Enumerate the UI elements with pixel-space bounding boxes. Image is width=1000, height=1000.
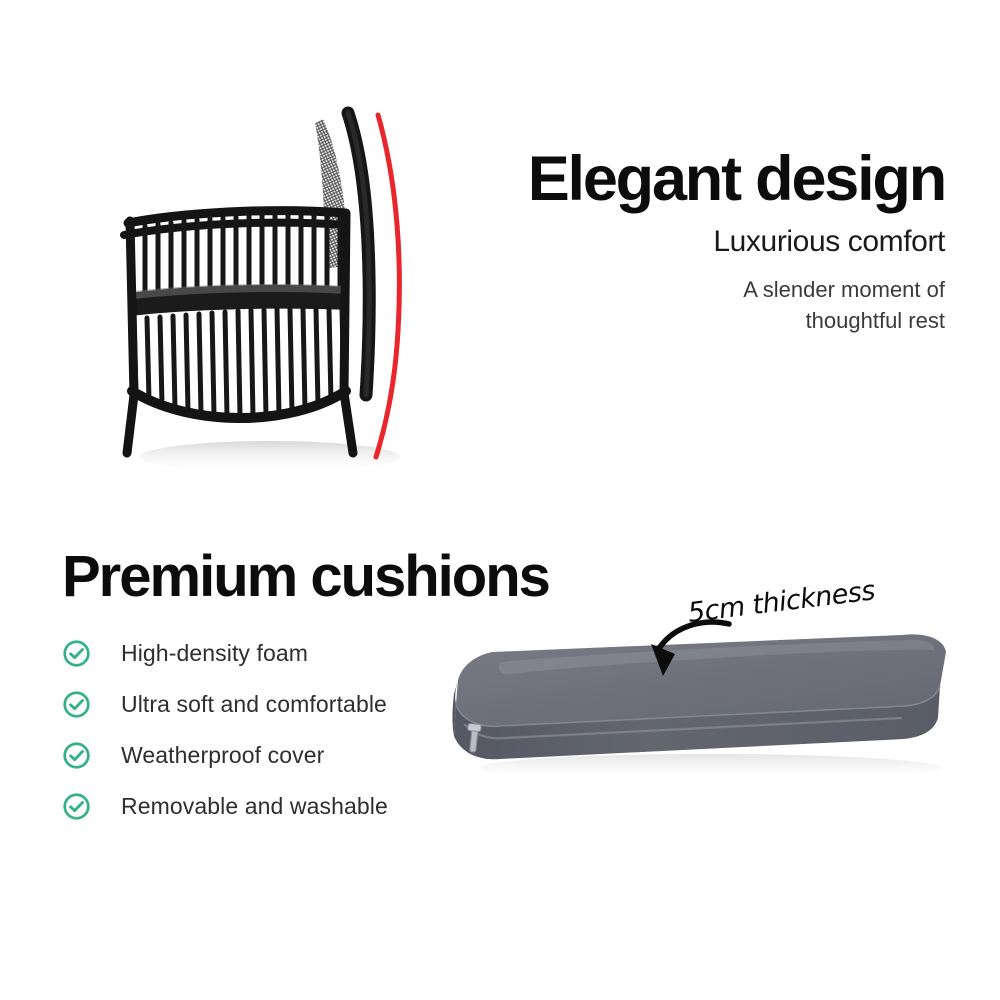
check-circle-icon	[62, 690, 91, 719]
hero-subtitle: Luxurious comfort	[425, 224, 945, 260]
feature-block: Premium cushions High-density foam Ultra…	[62, 548, 482, 832]
cushion-product-image	[440, 600, 960, 830]
check-circle-icon	[62, 639, 91, 668]
chair-front-upright	[130, 221, 134, 395]
hero-body-text: A slender moment of thoughtful rest	[695, 274, 945, 336]
chair-back-post-highlight	[348, 113, 369, 395]
cushion-shadow	[480, 754, 940, 782]
chair-floor-shadow	[140, 441, 400, 473]
check-circle-icon	[62, 741, 91, 770]
list-item-label: Ultra soft and comfortable	[121, 691, 387, 718]
list-item: Ultra soft and comfortable	[62, 679, 482, 730]
list-item-label: Weatherproof cover	[121, 742, 324, 769]
list-item: Removable and washable	[62, 781, 482, 832]
chair-front-leg	[127, 395, 134, 453]
check-circle-icon	[62, 792, 91, 821]
hero-copy-block: Elegant design Luxurious comfort A slend…	[425, 148, 945, 336]
poster-canvas: Elegant design Luxurious comfort A slend…	[0, 0, 1000, 1000]
hero-title: Elegant design	[425, 148, 945, 211]
list-item-label: Removable and washable	[121, 793, 388, 820]
list-item: Weatherproof cover	[62, 730, 482, 781]
list-item-label: High-density foam	[121, 640, 308, 667]
feature-list: High-density foam Ultra soft and comfort…	[62, 628, 482, 832]
accent-curve	[376, 115, 399, 457]
list-item: High-density foam	[62, 628, 482, 679]
chair-rear-upright	[344, 215, 346, 393]
feature-title: Premium cushions	[62, 548, 482, 606]
chair-product-image	[110, 95, 450, 495]
chair-weave-lower	[134, 309, 344, 417]
